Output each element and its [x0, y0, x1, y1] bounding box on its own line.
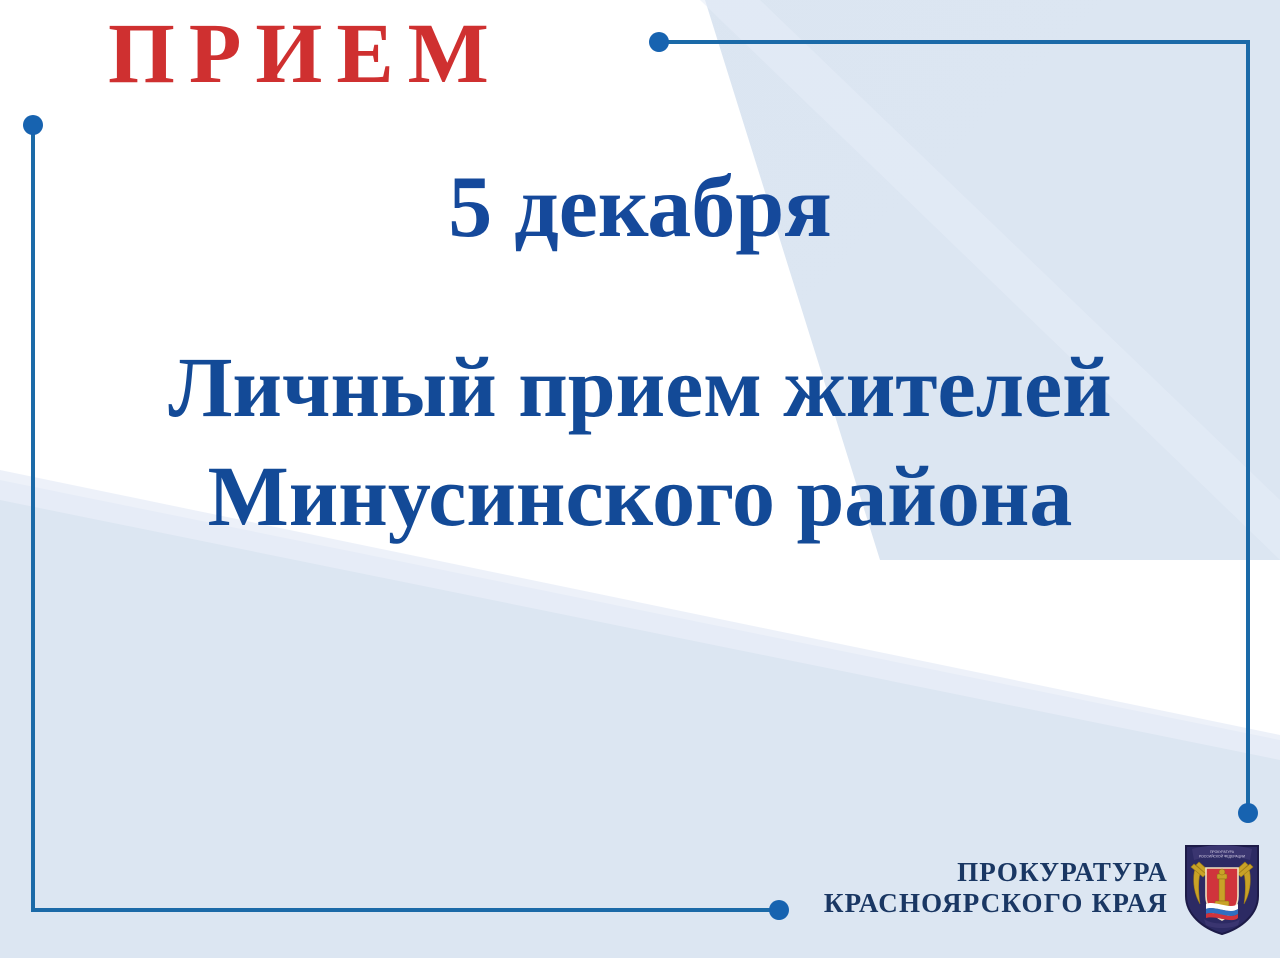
headline-line-1: Личный прием жителей — [40, 333, 1240, 442]
organization-name-line-1: ПРОКУРАТУРА — [824, 857, 1168, 888]
svg-text:РОССИЙСКОЙ ФЕДЕРАЦИИ: РОССИЙСКОЙ ФЕДЕРАЦИИ — [1199, 855, 1246, 859]
event-date: 5 декабря — [0, 160, 1280, 257]
organization-logo: ПРОКУРАТУРА КРАСНОЯРСКОГО КРАЯ ПРОКУРАТУ… — [824, 840, 1262, 936]
page-title: Личный прием жителей Минусинского района — [40, 333, 1240, 551]
poster-root: ПРИЕМ 5 декабря Личный прием жителей Мин… — [0, 0, 1280, 958]
headline-line-2: Минусинского района — [40, 442, 1240, 551]
kicker-title: ПРИЕМ — [108, 8, 503, 98]
organization-name-line-2: КРАСНОЯРСКОГО КРАЯ — [824, 888, 1168, 919]
prosecutor-shield-emblem-icon: ПРОКУРАТУРА РОССИЙСКОЙ ФЕДЕРАЦИИ — [1182, 840, 1262, 936]
organization-name: ПРОКУРАТУРА КРАСНОЯРСКОГО КРАЯ — [824, 857, 1168, 920]
svg-text:ПРОКУРАТУРА: ПРОКУРАТУРА — [1210, 850, 1235, 854]
